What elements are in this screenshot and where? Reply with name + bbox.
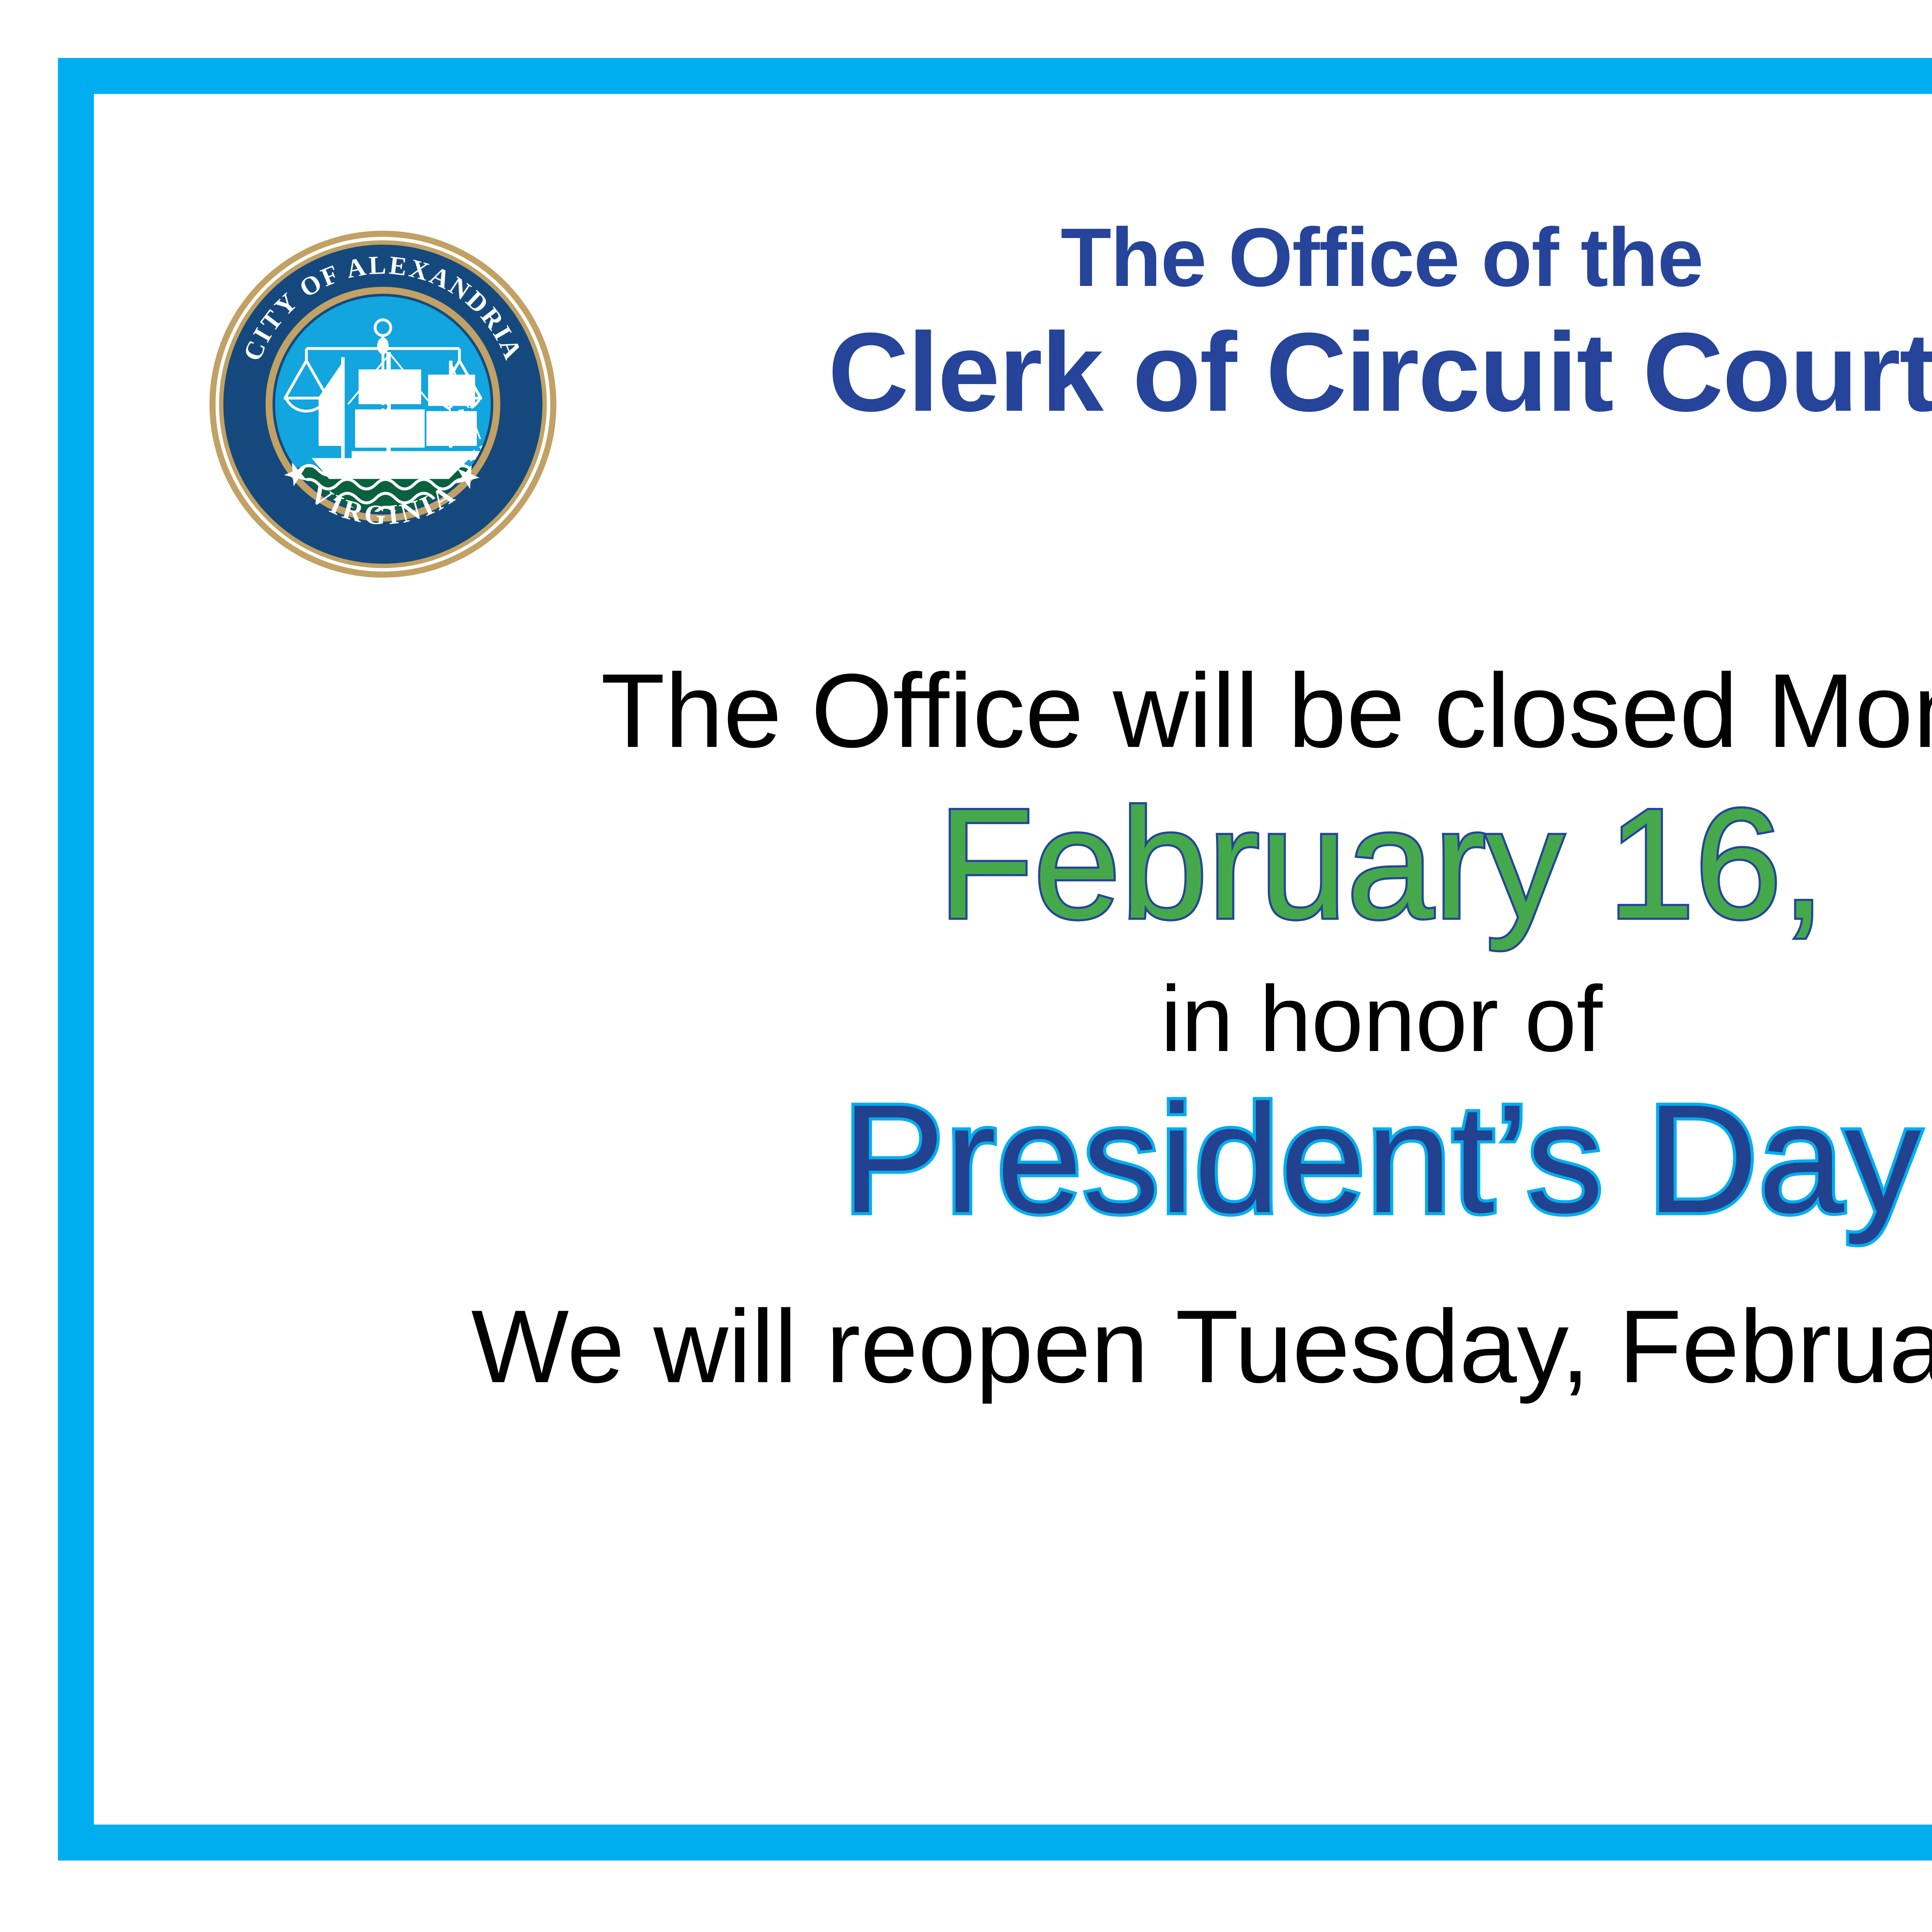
- header-title-block: The Office of the Clerk of Circuit Court: [574, 211, 1932, 441]
- holiday-name: President’s Day: [188, 1074, 1932, 1244]
- in-honor-of-line: in honor of: [188, 967, 1932, 1071]
- closure-line: The Office will be closed Monday,: [188, 651, 1932, 770]
- poster-header: CITY OF ALEXANDRIA ★ VIRGINIA ★ The Offi…: [188, 188, 1932, 605]
- reopen-line: We will reopen Tuesday, February 17th.: [188, 1288, 1932, 1404]
- city-of-alexandria-seal-icon: CITY OF ALEXANDRIA ★ VIRGINIA ★: [209, 230, 557, 578]
- poster-content: CITY OF ALEXANDRIA ★ VIRGINIA ★ The Offi…: [188, 188, 1932, 1918]
- closure-date: February 16,: [188, 777, 1932, 950]
- poster-body: The Office will be closed Monday, Februa…: [188, 605, 1932, 1404]
- header-line-2: Clerk of Circuit Court: [574, 304, 1932, 441]
- header-line-1: The Office of the: [574, 211, 1932, 304]
- poster-border: CITY OF ALEXANDRIA ★ VIRGINIA ★ The Offi…: [58, 58, 1932, 1861]
- closure-notice-poster: CITY OF ALEXANDRIA ★ VIRGINIA ★ The Offi…: [0, 0, 1932, 1932]
